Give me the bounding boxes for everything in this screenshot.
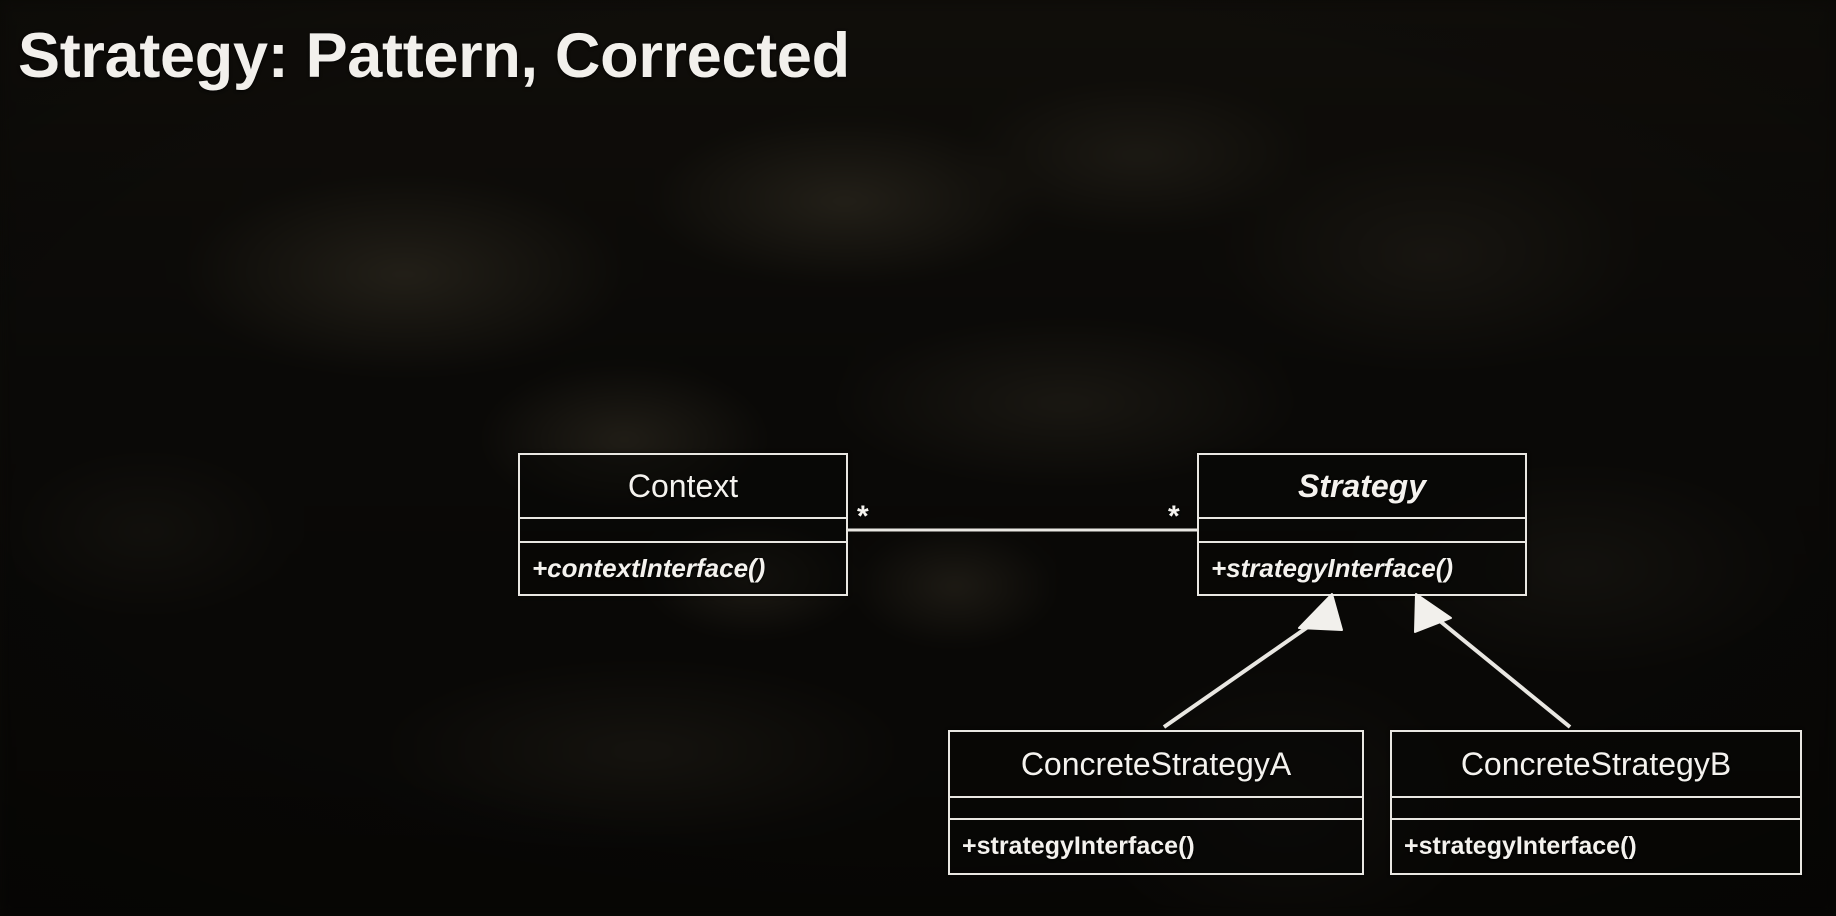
class-operation-context-interface: +contextInterface() <box>520 541 846 594</box>
class-name-concrete-strategy-a: ConcreteStrategyA <box>950 732 1362 796</box>
class-operation-concrete-b-strategy-interface: +strategyInterface() <box>1392 818 1800 873</box>
class-operation-strategy-interface: +strategyInterface() <box>1199 541 1525 594</box>
class-name-concrete-strategy-b: ConcreteStrategyB <box>1392 732 1800 796</box>
class-operation-concrete-a-strategy-interface: +strategyInterface() <box>950 818 1362 873</box>
generalization-arrowhead-concrete-a <box>1299 594 1342 630</box>
uml-class-concrete-strategy-a[interactable]: ConcreteStrategyA +strategyInterface() <box>948 730 1364 875</box>
class-name-context: Context <box>520 455 846 517</box>
generalization-line-concrete-a <box>1164 615 1325 727</box>
multiplicity-context-end: * <box>857 502 869 532</box>
uml-class-strategy[interactable]: Strategy +strategyInterface() <box>1197 453 1527 596</box>
uml-class-diagram: Context +contextInterface() Strategy +st… <box>0 0 1836 916</box>
generalization-arrowhead-concrete-b <box>1415 594 1451 632</box>
class-attributes-strategy <box>1199 517 1525 541</box>
uml-class-concrete-strategy-b[interactable]: ConcreteStrategyB +strategyInterface() <box>1390 730 1802 875</box>
class-attributes-context <box>520 517 846 541</box>
class-name-strategy: Strategy <box>1199 455 1525 517</box>
uml-class-context[interactable]: Context +contextInterface() <box>518 453 848 596</box>
multiplicity-strategy-end: * <box>1168 502 1180 532</box>
slide: Strategy: Pattern, Corrected Context +co… <box>0 0 1836 916</box>
class-attributes-concrete-strategy-b <box>1392 796 1800 818</box>
class-attributes-concrete-strategy-a <box>950 796 1362 818</box>
generalization-line-concrete-b <box>1435 617 1570 727</box>
